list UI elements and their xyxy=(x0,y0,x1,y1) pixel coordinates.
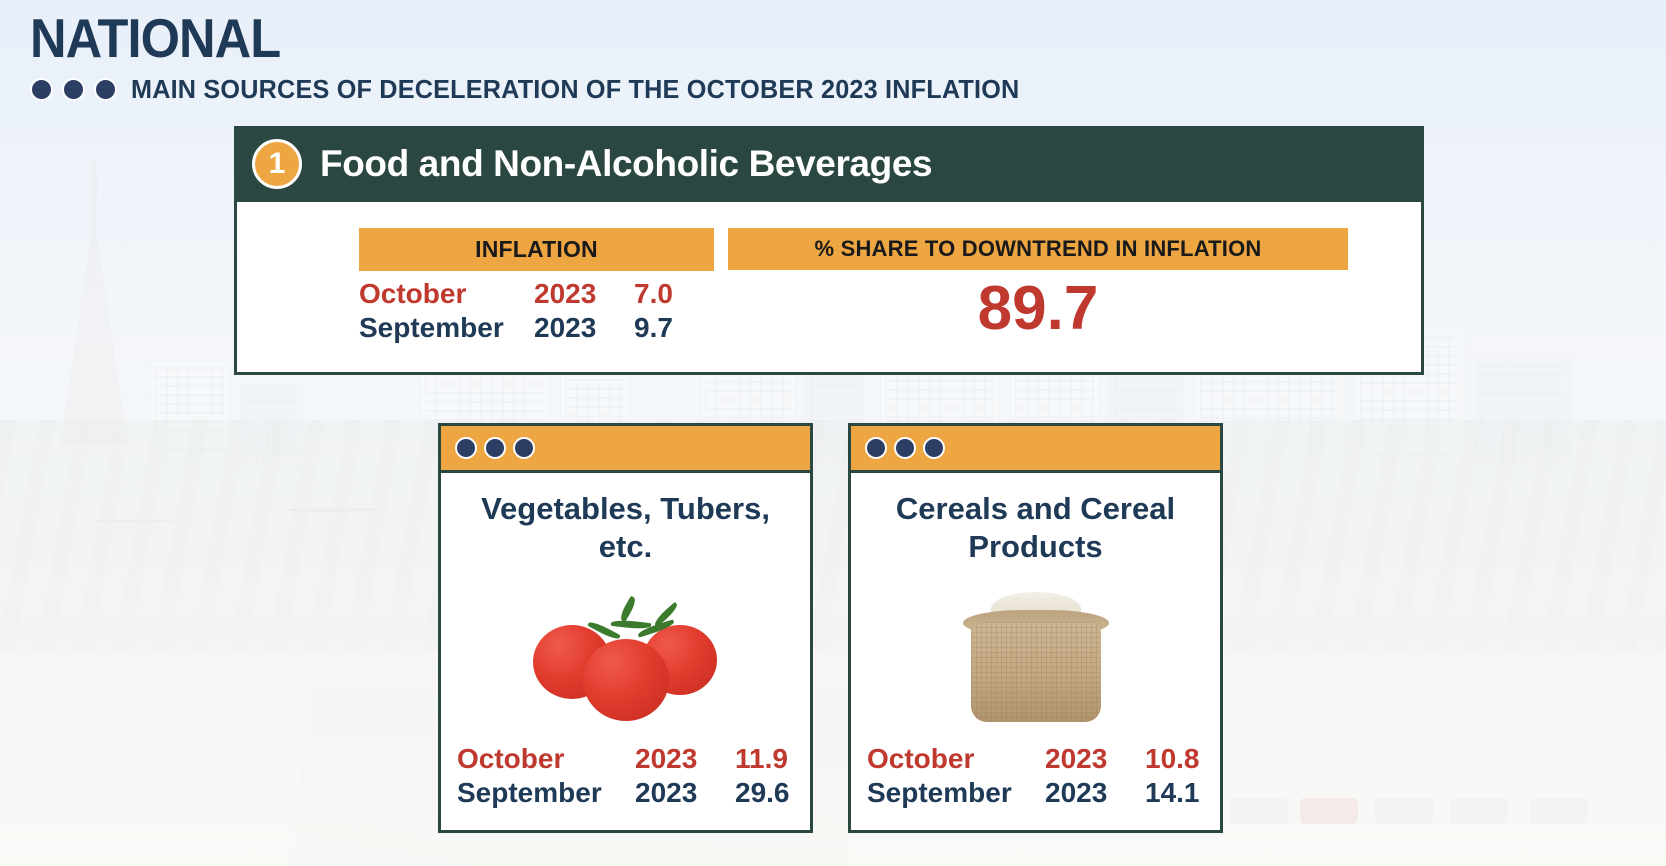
circle-dot-icon xyxy=(455,437,477,459)
commodity-cards: Vegetables, Tubers, etc. xyxy=(438,423,1223,833)
row-value: 10.8 xyxy=(1145,742,1221,776)
card-title: Vegetables, Tubers, etc. xyxy=(441,473,810,566)
table-row: September 2023 29.6 xyxy=(441,776,810,810)
row-value: 29.6 xyxy=(735,776,811,810)
page-header: NATIONAL MAIN SOURCES OF DECELERATION OF… xyxy=(30,12,1047,105)
circle-dot-icon xyxy=(94,78,117,101)
circle-dot-icon xyxy=(30,78,53,101)
inflation-column: INFLATION October 2023 7.0 September 202… xyxy=(359,228,714,372)
circle-dot-icon xyxy=(894,437,916,459)
row-value: 9.7 xyxy=(634,311,704,345)
row-year: 2023 xyxy=(1045,776,1145,810)
header-dot-group xyxy=(30,78,117,101)
table-row: September 2023 9.7 xyxy=(359,311,714,345)
row-value: 7.0 xyxy=(634,277,704,311)
share-header: % SHARE TO DOWNTREND IN INFLATION xyxy=(728,228,1348,270)
inflation-rows: October 2023 7.0 September 2023 9.7 xyxy=(359,277,714,345)
row-year: 2023 xyxy=(635,742,735,776)
table-row: September 2023 14.1 xyxy=(851,776,1220,810)
share-column: % SHARE TO DOWNTREND IN INFLATION 89.7 xyxy=(728,228,1348,372)
table-row: October 2023 10.8 xyxy=(851,742,1220,776)
page-title: NATIONAL xyxy=(30,12,966,64)
circle-dot-icon xyxy=(513,437,535,459)
card-vegetables: Vegetables, Tubers, etc. xyxy=(438,423,813,833)
panel-banner: 1 Food and Non-Alcoholic Beverages xyxy=(234,126,1424,202)
card-rows: October 2023 10.8 September 2023 14.1 xyxy=(851,742,1220,830)
row-month: October xyxy=(457,742,635,776)
circle-dot-icon xyxy=(484,437,506,459)
row-value: 11.9 xyxy=(735,742,811,776)
card-rows: October 2023 11.9 September 2023 29.6 xyxy=(441,742,810,830)
row-year: 2023 xyxy=(1045,742,1145,776)
share-value: 89.7 xyxy=(728,276,1348,341)
rank-badge: 1 xyxy=(252,139,302,189)
row-month: September xyxy=(867,776,1045,810)
row-year: 2023 xyxy=(534,311,634,345)
table-row: October 2023 11.9 xyxy=(441,742,810,776)
card-header-bar xyxy=(851,426,1220,473)
main-panel: 1 Food and Non-Alcoholic Beverages INFLA… xyxy=(234,126,1424,375)
row-month: October xyxy=(867,742,1045,776)
page-subtitle: MAIN SOURCES OF DECELERATION OF THE OCTO… xyxy=(131,74,1019,105)
banner-title: Food and Non-Alcoholic Beverages xyxy=(320,143,932,185)
row-month: September xyxy=(457,776,635,810)
card-header-bar xyxy=(441,426,810,473)
subheader-row: MAIN SOURCES OF DECELERATION OF THE OCTO… xyxy=(30,74,1047,105)
circle-dot-icon xyxy=(923,437,945,459)
card-title: Cereals and Cereal Products xyxy=(851,473,1220,566)
circle-dot-icon xyxy=(62,78,85,101)
row-value: 14.1 xyxy=(1145,776,1221,810)
panel-body: INFLATION October 2023 7.0 September 202… xyxy=(234,202,1424,375)
inflation-header: INFLATION xyxy=(359,228,714,271)
table-row: October 2023 7.0 xyxy=(359,277,714,311)
row-year: 2023 xyxy=(534,277,634,311)
row-month: October xyxy=(359,277,534,311)
rice-sack-icon xyxy=(851,566,1220,742)
tomatoes-icon xyxy=(441,566,810,742)
card-cereals: Cereals and Cereal Products October 2023… xyxy=(848,423,1223,833)
row-year: 2023 xyxy=(635,776,735,810)
row-month: September xyxy=(359,311,534,345)
infographic-canvas: NATIONAL MAIN SOURCES OF DECELERATION OF… xyxy=(0,0,1666,866)
circle-dot-icon xyxy=(865,437,887,459)
